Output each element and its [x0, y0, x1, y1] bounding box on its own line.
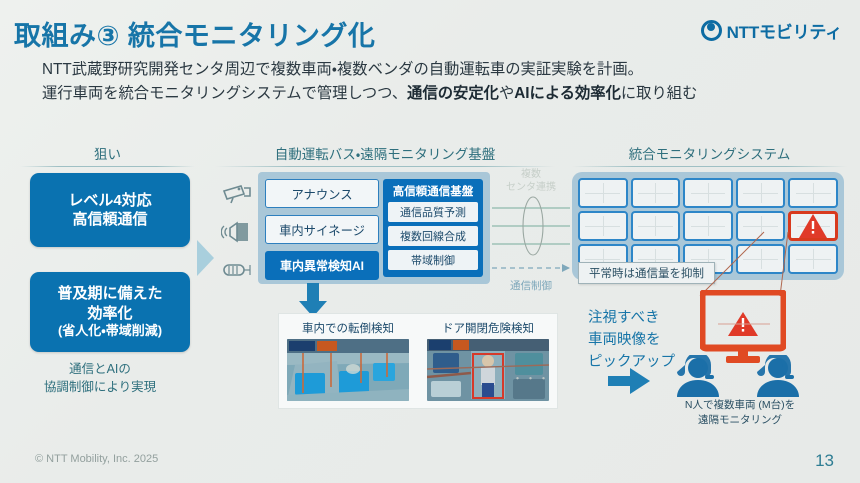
comm-stack-item-quality[interactable]: 通信品質予測	[388, 202, 478, 222]
column-header-monitoring: 統合モニタリングシステム	[572, 143, 847, 167]
column-header-platform-label: 自動運転バス・遠隔モニタリング基盤	[215, 143, 555, 163]
vehicle-device-icons	[218, 182, 258, 280]
lede-l2-e: に取り組む	[621, 85, 698, 102]
lede-paragraph: NTT武蔵野研究開発センタ周辺で複数車両・複数ベンダの自動運転車の実証実験を計画…	[42, 58, 697, 105]
platform-service-list: アナウンス 車内サイネージ 車内異常検知AI	[265, 179, 379, 280]
feed-cell[interactable]	[736, 211, 786, 241]
camera-caption: ドア開閉危険検知	[427, 320, 549, 336]
aim-box-reliable-comms[interactable]: レベル4対応 高信頼通信	[30, 173, 190, 247]
more-examples-indicator: ・・・	[512, 370, 551, 386]
service-box-anomaly-ai[interactable]: 車内異常検知AI	[265, 251, 379, 280]
lede-line-2: 運行車両を統合モニタリングシステムで管理しつつ、通信の安定化やAIによる効率化に…	[42, 82, 697, 106]
service-box-signage[interactable]: 車内サイネージ	[265, 215, 379, 244]
column-header-platform: 自動運転バス・遠隔モニタリング基盤	[215, 143, 555, 167]
operators-caption-line-1: N人で複数車両 (M台)を	[645, 398, 835, 413]
comm-stack-item-label: 通信品質予測	[400, 204, 466, 220]
lede-l2-a: 運行車両を統合モニタリングシステムで管理しつつ、	[42, 85, 407, 102]
pickup-description: 注視すべき 車両映像を ピックアップ	[588, 308, 675, 373]
feed-cell[interactable]	[631, 178, 681, 208]
aim-box-efficiency[interactable]: 普及期に備えた 効率化 (省人化・帯域削減)	[30, 272, 190, 352]
operators-caption: N人で複数車両 (M台)を 遠隔モニタリング	[645, 398, 835, 428]
lede-l2-emph-1: 通信の安定化	[407, 85, 499, 102]
aim-box-2-line-1: 普及期に備えた	[57, 284, 162, 304]
lede-l2-emph-2: AIによる効率化	[514, 85, 621, 102]
feed-cell[interactable]	[788, 178, 838, 208]
feed-cell[interactable]	[578, 211, 628, 241]
aim-box-1-line-2: 高信頼通信	[72, 210, 147, 230]
normal-state-callout: 平常時は通信量を抑制	[578, 262, 715, 284]
lede-line-1: NTT武蔵野研究開発センタ周辺で複数車両・複数ベンダの自動運転車の実証実験を計画…	[42, 58, 697, 82]
comm-stack-item-label: 複数回線合成	[400, 228, 466, 244]
pickup-line-1: 注視すべき	[588, 308, 675, 330]
feed-cell[interactable]	[683, 178, 733, 208]
multi-center-label: 複数 センタ連携	[492, 168, 570, 194]
security-camera-icon	[221, 182, 255, 204]
service-label: アナウンス	[292, 185, 353, 203]
feed-cell[interactable]	[683, 211, 733, 241]
copyright-notice: © NTT Mobility, Inc. 2025	[35, 453, 158, 465]
feed-cell[interactable]	[736, 244, 786, 274]
aim-box-2-line-3: (省人化・帯域削減)	[58, 323, 162, 340]
column-header-aim-label: 狙い	[20, 143, 195, 163]
camera-panel-door-risk[interactable]: ドア開閉危険検知	[427, 320, 549, 401]
reliable-comm-stack: 高信頼通信基盤 通信品質予測 複数回線合成 帯域制御	[383, 179, 483, 277]
camera-panel-fall-detection[interactable]: 車内での転倒検知	[287, 320, 409, 401]
feed-cell[interactable]	[578, 178, 628, 208]
page-title: 取組み③ 統合モニタリング化	[14, 14, 375, 53]
ntt-circle-logo-icon	[701, 20, 722, 41]
aim-note: 通信とAIの 協調制御により実現	[20, 360, 180, 396]
column-header-monitoring-label: 統合モニタリングシステム	[572, 143, 847, 163]
remote-monitoring-platform: アナウンス 車内サイネージ 車内異常検知AI 高信頼通信基盤 通信品質予測 複数…	[258, 172, 490, 284]
service-box-announce[interactable]: アナウンス	[265, 179, 379, 208]
slide-root: 取組み③ 統合モニタリング化 NTTモビリティ NTT武蔵野研究開発センタ周辺で…	[0, 0, 860, 483]
lede-l2-c: や	[499, 85, 514, 102]
column-header-monitoring-rule	[572, 166, 847, 167]
comm-stack-item-label: 帯域制御	[411, 252, 455, 268]
service-label: 車内サイネージ	[279, 221, 365, 239]
comm-stack-item-bandwidth[interactable]: 帯域制御	[388, 250, 478, 270]
column-header-aim-rule	[20, 166, 195, 167]
column-header-aim: 狙い	[20, 143, 195, 167]
camera-caption: 車内での転倒検知	[287, 320, 409, 336]
comm-stack-item-bonding[interactable]: 複数回線合成	[388, 226, 478, 246]
detection-examples-panel: 車内での転倒検知	[278, 313, 558, 409]
column-header-platform-rule	[215, 166, 555, 167]
pickup-line-2: 車両映像を	[588, 330, 675, 352]
feed-cell[interactable]	[631, 211, 681, 241]
bus-interior-fall-detection-image	[287, 339, 409, 401]
operators-caption-line-2: 遠隔モニタリング	[645, 413, 835, 428]
page-number: 13	[815, 451, 834, 471]
service-label: 車内異常検知AI	[280, 257, 364, 274]
aim-note-line-2: 協調制御により実現	[20, 378, 180, 396]
arrow-right-icon	[608, 368, 650, 394]
brand-logo-text: NTTモビリティ	[727, 18, 842, 43]
aim-box-2-line-2: 効率化	[87, 304, 132, 324]
aim-box-1-line-1: レベル4対応	[68, 191, 151, 211]
comm-control-label: 通信制御	[494, 278, 568, 293]
comm-stack-title: 高信頼通信基盤	[388, 183, 478, 199]
headset-operator-icon	[665, 355, 815, 403]
aim-note-line-1: 通信とAIの	[20, 360, 180, 378]
brand-logo: NTTモビリティ	[701, 18, 842, 43]
display-sensor-icon	[221, 260, 255, 280]
warning-triangle-icon	[798, 213, 828, 239]
triangle-right-icon	[197, 240, 214, 276]
feed-cell[interactable]	[788, 244, 838, 274]
speaker-icon	[221, 220, 255, 244]
multi-center-label-line-1: 複数	[492, 168, 570, 181]
feed-cell[interactable]	[736, 178, 786, 208]
feed-cell-alert[interactable]	[788, 211, 838, 241]
multi-center-label-line-2: センタ連携	[492, 181, 570, 194]
vehicle-feed-grid	[578, 178, 838, 274]
